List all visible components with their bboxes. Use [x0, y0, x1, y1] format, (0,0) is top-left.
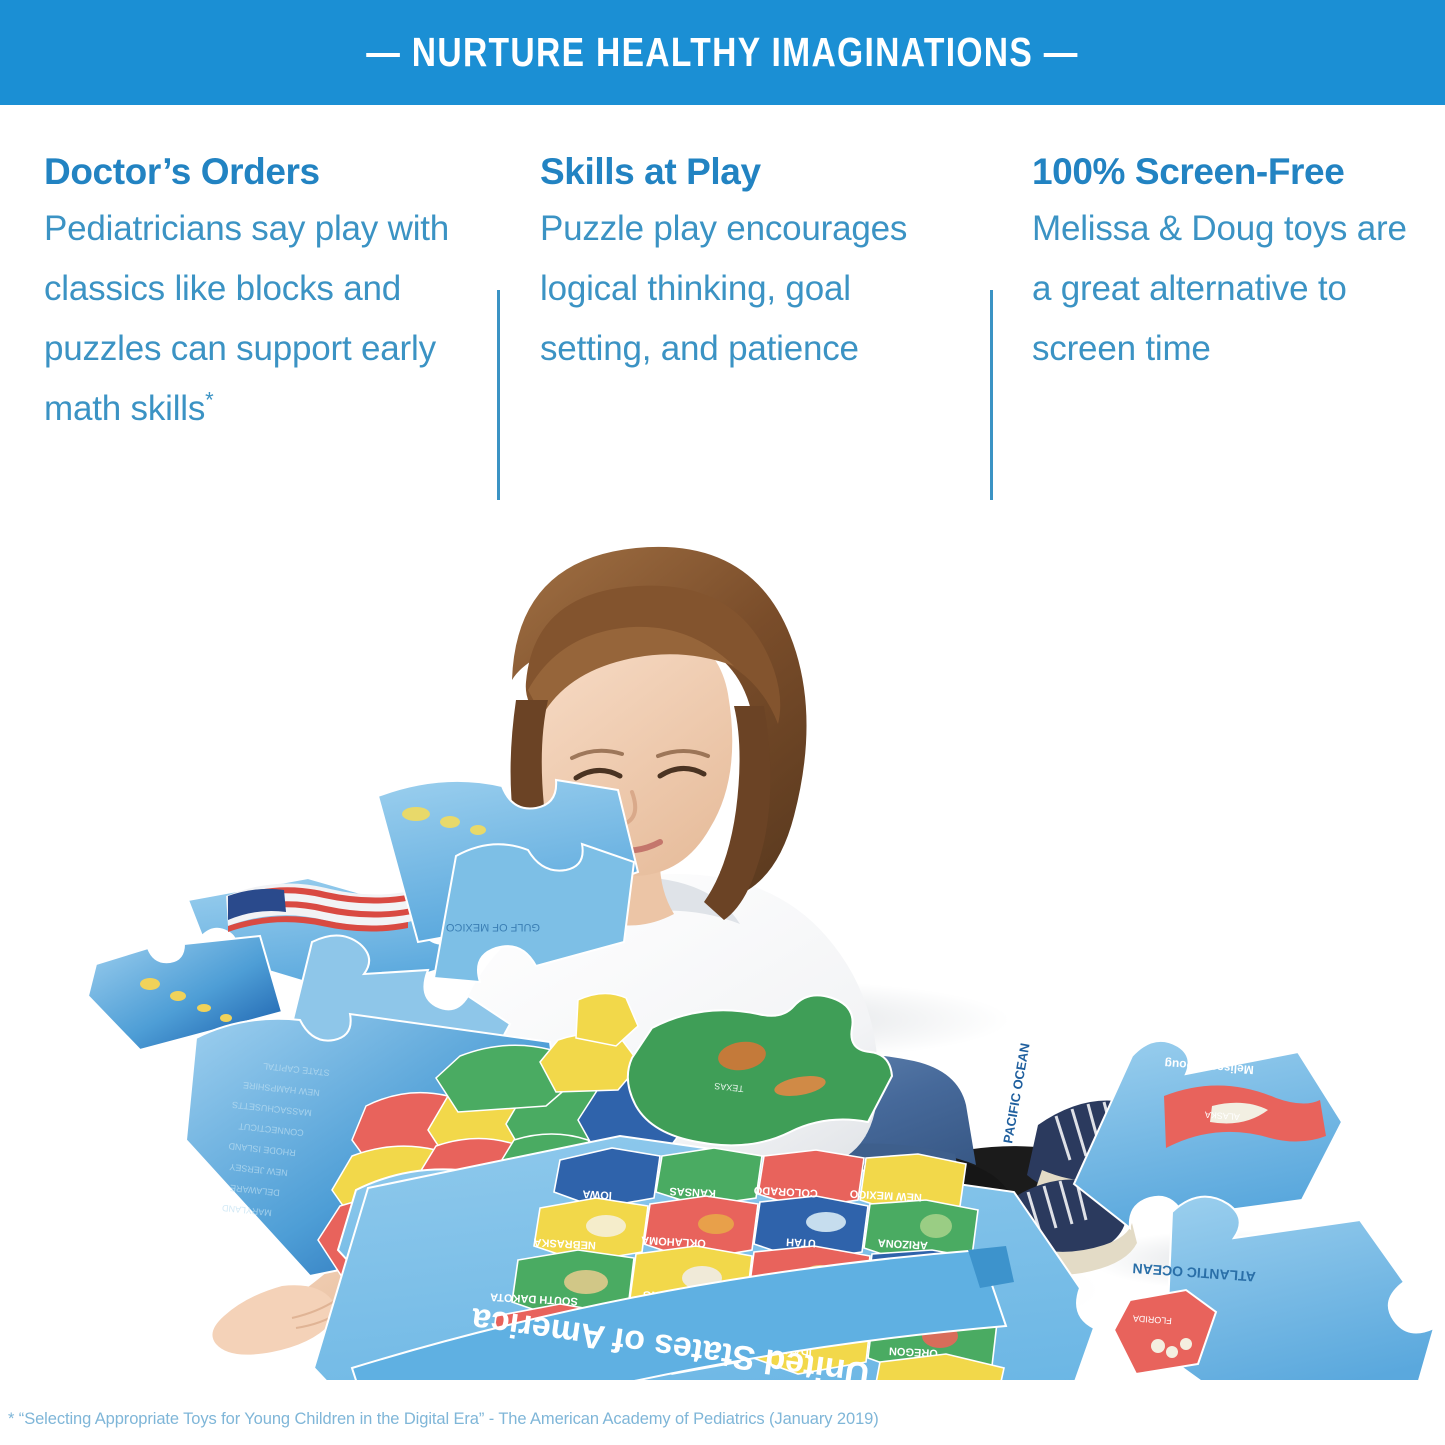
benefit-body: Puzzle play encourages logical thinking,… — [540, 199, 970, 380]
benefit-body: Melissa & Doug toys are a great alternat… — [1032, 199, 1432, 380]
benefit-body: Pediatricians say play with classics lik… — [44, 199, 484, 440]
header-banner: — NURTURE HEALTHY IMAGINATIONS — — [0, 0, 1445, 105]
benefits-section: Doctor’s Orders Pediatricians say play w… — [0, 105, 1445, 505]
benefit-column-doctors-orders: Doctor’s Orders Pediatricians say play w… — [44, 153, 484, 440]
product-photo-scene: GULF OF MEXICO STATE CAPITAL NEW HAMPSHI… — [0, 500, 1445, 1380]
benefit-heading: Skills at Play — [540, 153, 970, 192]
svg-text:KANSAS: KANSAS — [669, 1185, 716, 1199]
benefit-body-text: Pediatricians say play with classics lik… — [44, 209, 449, 429]
svg-text:IOWA: IOWA — [582, 1187, 612, 1201]
banner-title: — NURTURE HEALTHY IMAGINATIONS — — [366, 29, 1079, 76]
footnote-text: * “Selecting Appropriate Toys for Young … — [8, 1410, 1208, 1429]
benefit-heading: 100% Screen-Free — [1032, 153, 1432, 192]
benefit-column-screen-free: 100% Screen-Free Melissa & Doug toys are… — [1032, 153, 1432, 379]
footnote-marker: * — [205, 388, 213, 413]
benefit-column-skills-at-play: Skills at Play Puzzle play encourages lo… — [540, 153, 970, 379]
column-divider-2 — [990, 290, 993, 526]
svg-text:UTAH: UTAH — [786, 1235, 816, 1249]
svg-text:GULF OF MEXICO: GULF OF MEXICO — [445, 921, 540, 933]
benefit-heading: Doctor’s Orders — [44, 153, 484, 192]
